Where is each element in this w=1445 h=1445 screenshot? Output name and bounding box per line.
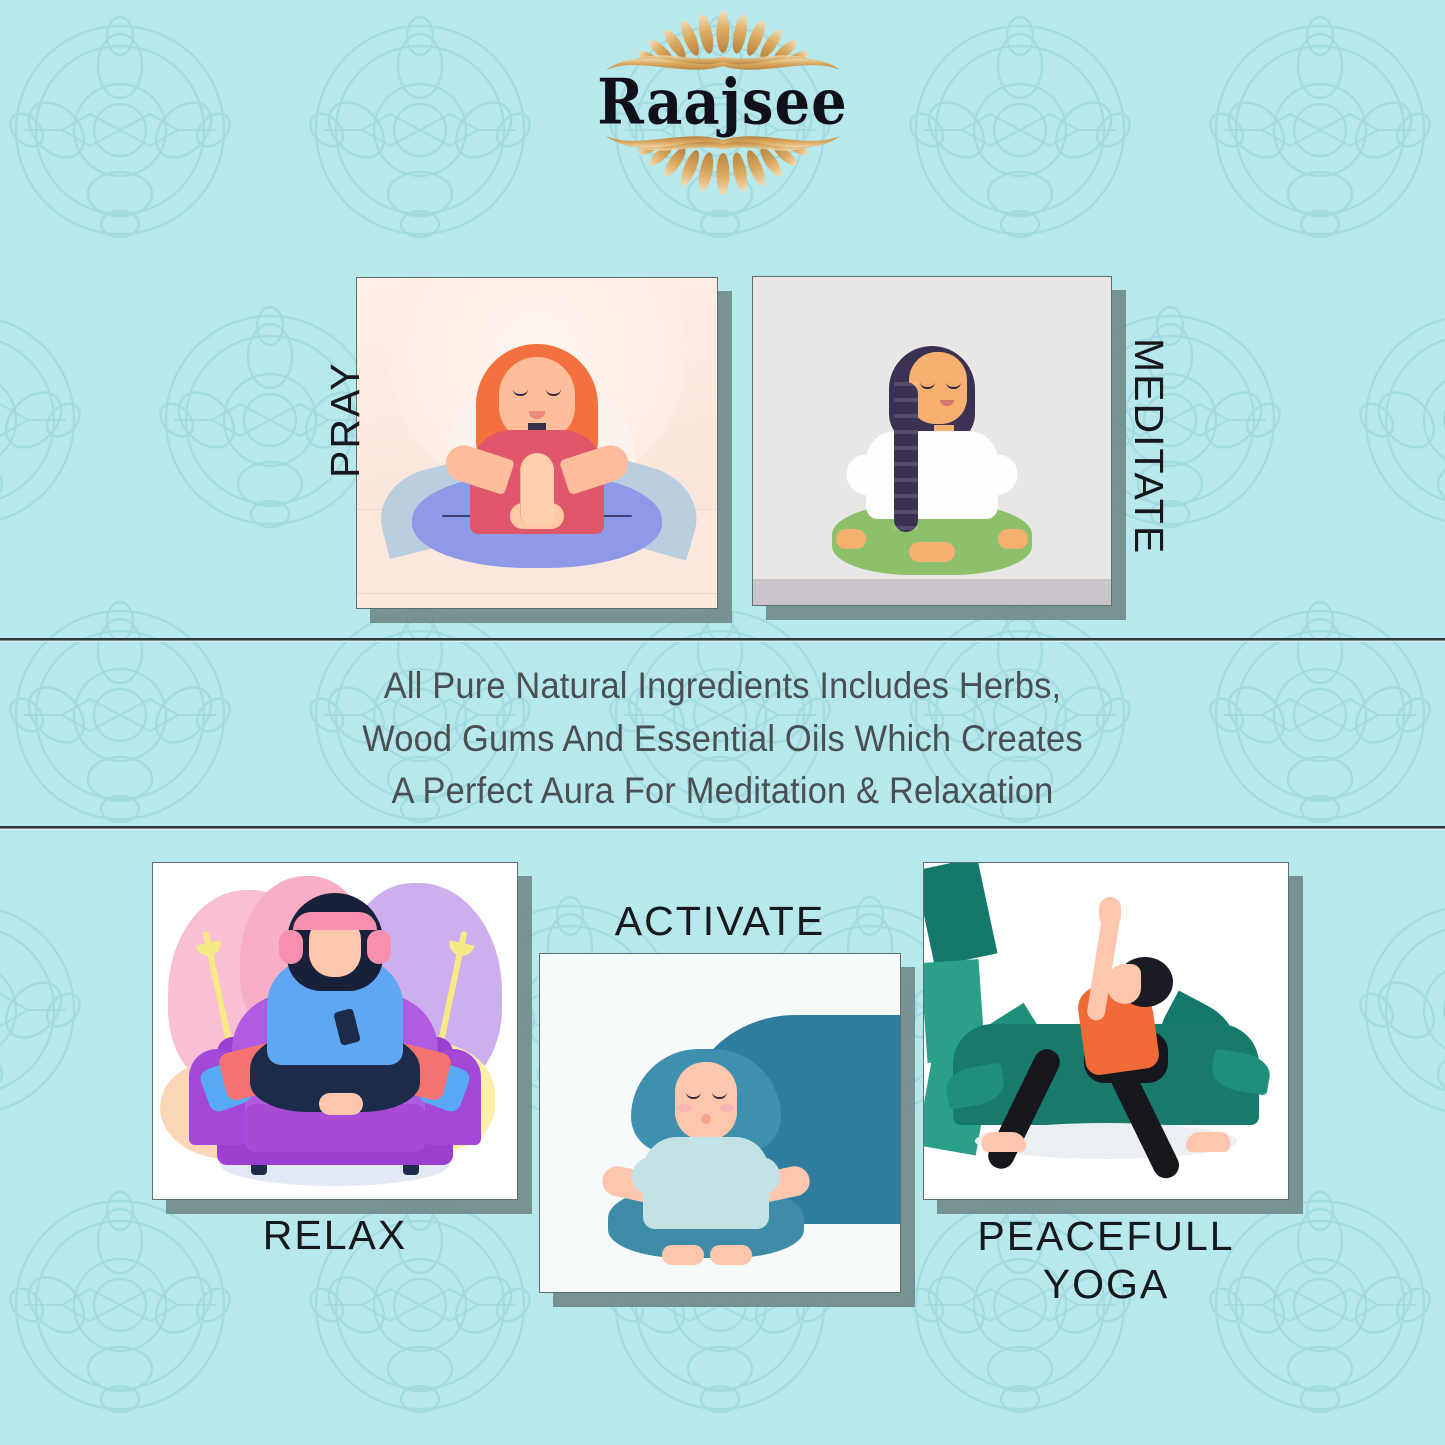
label-meditate: MEDITATE — [1125, 338, 1172, 555]
card-activate — [539, 953, 901, 1293]
illustration-meditate — [753, 277, 1111, 605]
card-meditate — [752, 276, 1112, 606]
label-peacefull-yoga-line-1: PEACEFULL — [923, 1212, 1289, 1260]
illustration-relax — [153, 863, 517, 1199]
card-relax — [152, 862, 518, 1200]
tagline-line-3: A Perfect Aura For Meditation & Relaxati… — [51, 765, 1395, 818]
divider-bottom — [0, 826, 1445, 830]
label-peacefull-yoga-line-2: YOGA — [923, 1260, 1289, 1308]
card-pray — [356, 277, 718, 609]
brand-name: Raajsee — [597, 71, 847, 134]
divider-top — [0, 638, 1445, 642]
card-peacefull-yoga — [923, 862, 1289, 1200]
tagline-line-2: Wood Gums And Essential Oils Which Creat… — [51, 713, 1395, 766]
label-peacefull-yoga: PEACEFULL YOGA — [923, 1212, 1289, 1309]
illustration-pray — [357, 278, 717, 608]
brand-logo: Raajsee — [0, 8, 1445, 198]
illustration-activate — [540, 954, 900, 1292]
illustration-peacefull-yoga — [924, 863, 1288, 1199]
label-activate: ACTIVATE — [539, 898, 901, 945]
tagline: All Pure Natural Ingredients Includes He… — [51, 660, 1395, 818]
label-relax: RELAX — [152, 1212, 518, 1259]
tagline-line-1: All Pure Natural Ingredients Includes He… — [51, 660, 1395, 713]
label-pray: PRAY — [322, 361, 369, 478]
